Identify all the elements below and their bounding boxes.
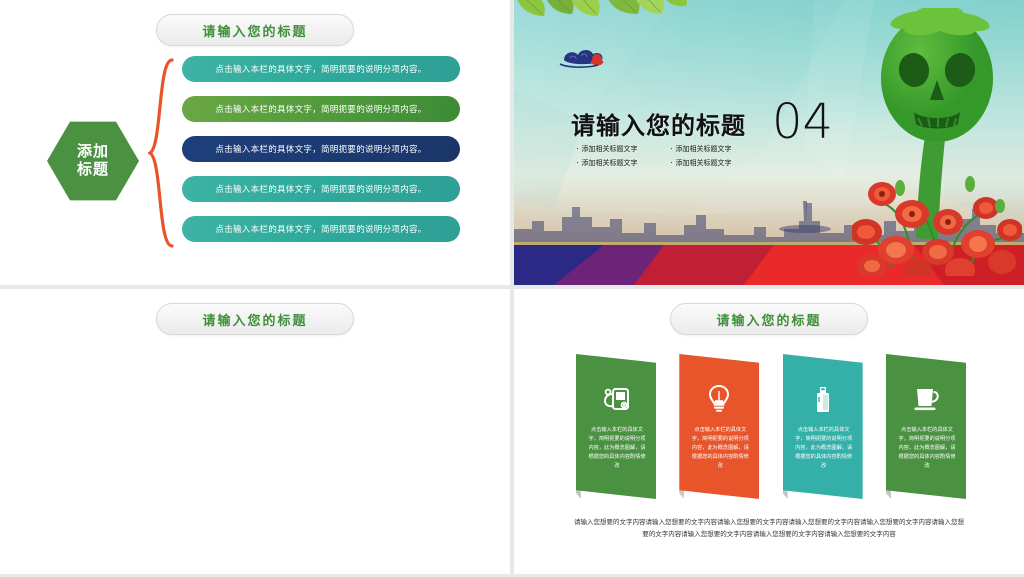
list-item[interactable]: 点击输入本栏的具体文字，简明扼要的说明分项内容。 [182,56,460,82]
list-item-label: 点击输入本栏的具体文字，简明扼要的说明分项内容。 [215,183,426,195]
list-item-label: 点击输入本栏的具体文字，简明扼要的说明分项内容。 [215,63,426,75]
slide2-title: 请输入您的标题 [571,106,746,141]
panel-text: 点击输入本栏的具体文字，简明扼要的说明分项内容，此为概念图解，请根据您的具体内容… [588,426,646,471]
game-console-icon [601,384,631,414]
panel-4[interactable]: 点击输入本栏的具体文字，简明扼要的说明分项内容，此为概念图解，请根据您的具体内容… [886,354,966,499]
panel-3[interactable]: 点击输入本栏的具体文字，简明扼要的说明分项内容，此为概念图解，请根据您的具体内容… [783,354,863,499]
panel-2[interactable]: 点击输入本栏的具体文字，简明扼要的说明分项内容，此为概念图解，请根据您的具体内容… [679,354,759,499]
list-item-label: 点击输入本栏的具体文字，简明扼要的说明分项内容。 [215,223,426,235]
hexagon-label-line1: 添加 [77,143,109,161]
slide2-bullet: 添加相关标题文字 [670,157,750,168]
lightbulb-icon [704,384,734,414]
hexagon-label-line2: 标题 [77,161,109,179]
usb-drive-icon [808,384,838,414]
hexagon-shape: 添加 标题 [47,120,139,202]
list-item-label: 点击输入本栏的具体文字，简明扼要的说明分项内容。 [215,143,426,155]
slide2-bullet: 添加相关标题文字 [576,157,656,168]
slide-3: 请输入您的标题 [0,289,510,574]
hexagon-badge[interactable]: 添加 标题 [47,120,139,202]
green-poppy-skull-artwork [852,8,1022,276]
slide2-section-number: 04 [772,98,833,146]
panel-row: 点击输入本栏的具体文字，简明扼要的说明分项内容，此为概念图解，请根据您的具体内容… [576,354,966,499]
slide3-title-pill: 请输入您的标题 [156,303,354,335]
list-item[interactable]: 点击输入本栏的具体文字，简明扼要的说明分项内容。 [182,216,460,242]
panel-text: 点击输入本栏的具体文字，简明扼要的说明分项内容，此为概念图解，请根据您的具体内容… [691,426,749,471]
list-item[interactable]: 点击输入本栏的具体文字，简明扼要的说明分项内容。 [182,136,460,162]
slide3-title: 请输入您的标题 [202,310,307,329]
cloud-wave-ornament-icon [558,44,608,70]
panel-1[interactable]: 点击输入本栏的具体文字，简明扼要的说明分项内容，此为概念图解，请根据您的具体内容… [576,354,656,499]
list-item-label: 点击输入本栏的具体文字，简明扼要的说明分项内容。 [215,103,426,115]
panel-text: 点击输入本栏的具体文字，简明扼要的说明分项内容，此为概念图解，请根据您的具体内容… [898,426,956,471]
slide-4: 请输入您的标题 点击输入本栏的具体文字，简明扼要的说明分项内容，此为概念图解，请… [514,289,1024,574]
slide1-title: 请输入您的标题 [202,21,307,40]
curly-brace-icon [148,58,174,248]
slide4-title: 请输入您的标题 [716,310,821,329]
slide-2: 请输入您的标题 04 添加相关标题文字 添加相关标题文字 添加相关标题文字 添加… [514,0,1024,285]
slide2-bullet-grid: 添加相关标题文字 添加相关标题文字 添加相关标题文字 添加相关标题文字 [576,143,756,168]
slide1-title-pill: 请输入您的标题 [156,14,354,46]
slide1-item-list: 点击输入本栏的具体文字，简明扼要的说明分项内容。 点击输入本栏的具体文字，简明扼… [182,56,460,256]
leaves-decoration [514,0,714,40]
slide2-bullet: 添加相关标题文字 [670,143,750,154]
slide2-bullet: 添加相关标题文字 [576,143,656,154]
panel-text: 点击输入本栏的具体文字，简明扼要的说明分项内容，此为概念图解，请根据您的具体内容… [795,426,853,471]
coffee-cup-icon [911,384,941,414]
list-item[interactable]: 点击输入本栏的具体文字，简明扼要的说明分项内容。 [182,176,460,202]
slide4-title-pill: 请输入您的标题 [670,303,868,335]
slide4-caption: 请输入您想要的文字内容请输入您想要的文字内容请输入您想要的文字内容请输入您想要的… [574,517,964,542]
slide-1: 请输入您的标题 添加 标题 点击输入本栏的具体文字，简明扼要的说明分项内容。 点… [0,0,510,285]
slide-grid: 请输入您的标题 添加 标题 点击输入本栏的具体文字，简明扼要的说明分项内容。 点… [0,0,1024,577]
list-item[interactable]: 点击输入本栏的具体文字，简明扼要的说明分项内容。 [182,96,460,122]
